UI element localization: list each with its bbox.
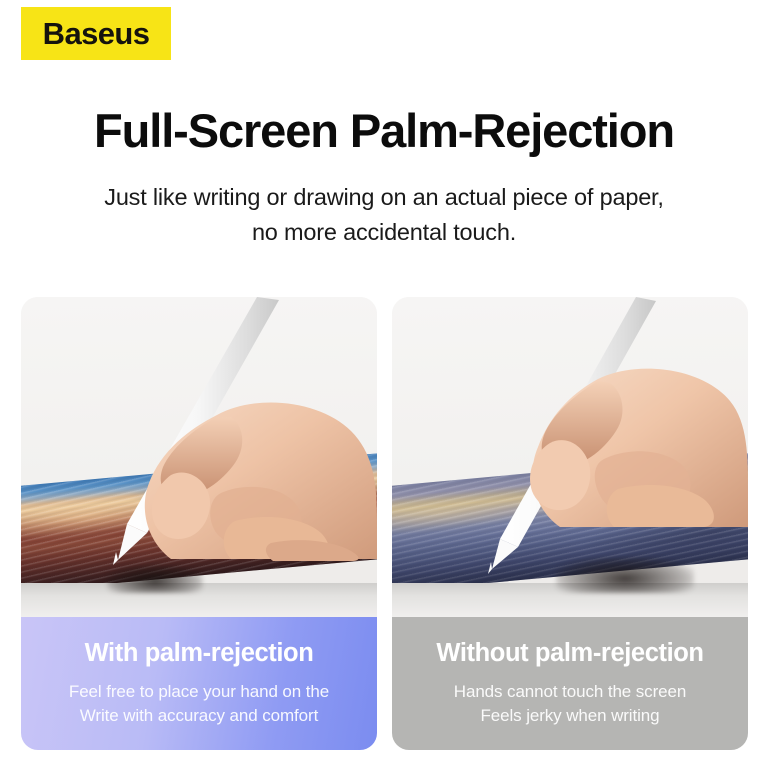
hand-with-stylus-hovering: [392, 297, 748, 617]
product-feature-page: Baseus Full-Screen Palm-Rejection Just l…: [0, 0, 768, 768]
hand-illustration-right: [392, 297, 748, 617]
panel-with-palm-rejection: With palm-rejection Feel free to place y…: [21, 297, 377, 750]
caption-with-palm-rejection: With palm-rejection Feel free to place y…: [21, 617, 377, 750]
caption-left-line-1: Feel free to place your hand on the: [21, 680, 377, 704]
page-subtitle: Just like writing or drawing on an actua…: [0, 180, 768, 250]
caption-title-left: With palm-rejection: [21, 639, 377, 667]
brand-logo-text: Baseus: [43, 18, 150, 49]
caption-right-line-1: Hands cannot touch the screen: [392, 680, 748, 704]
subtitle-line-1: Just like writing or drawing on an actua…: [0, 180, 768, 215]
brand-logo: Baseus: [21, 7, 171, 60]
page-title: Full-Screen Palm-Rejection: [0, 104, 768, 158]
hand-illustration-left: [21, 297, 377, 617]
photo-with-palm-rejection: [21, 297, 377, 617]
caption-without-palm-rejection: Without palm-rejection Hands cannot touc…: [392, 617, 748, 750]
caption-title-right: Without palm-rejection: [392, 639, 748, 667]
photo-without-palm-rejection: [392, 297, 748, 617]
caption-body-left: Feel free to place your hand on the Writ…: [21, 680, 377, 728]
caption-right-line-2: Feels jerky when writing: [392, 704, 748, 728]
subtitle-line-2: no more accidental touch.: [0, 215, 768, 250]
panel-without-palm-rejection: Without palm-rejection Hands cannot touc…: [392, 297, 748, 750]
comparison-panels: With palm-rejection Feel free to place y…: [21, 297, 748, 750]
caption-left-line-2: Write with accuracy and comfort: [21, 704, 377, 728]
hand-with-stylus-resting: [21, 297, 377, 617]
caption-body-right: Hands cannot touch the screen Feels jerk…: [392, 680, 748, 728]
